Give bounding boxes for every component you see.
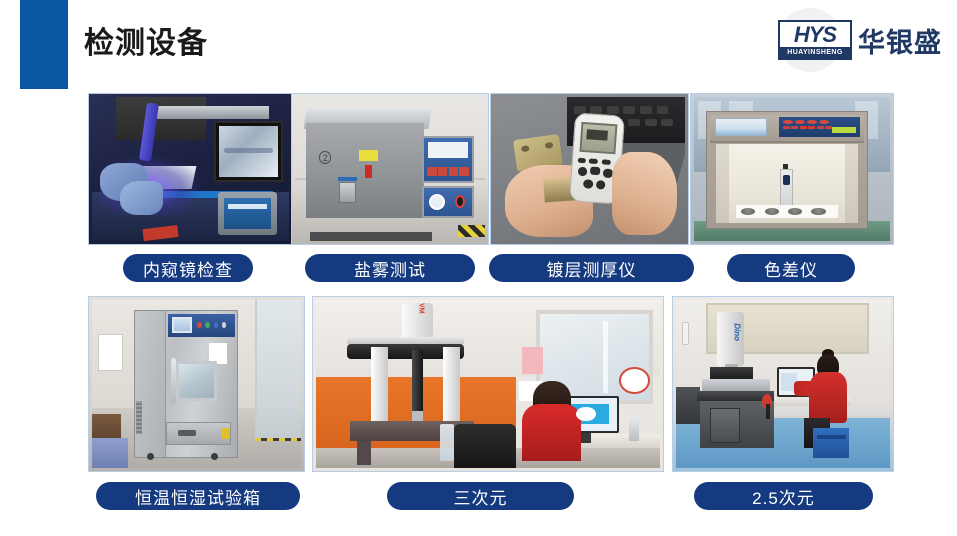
- blue-tarp: [92, 438, 128, 468]
- control-knob: [455, 195, 465, 208]
- panel-lcd: [832, 127, 856, 133]
- chamber-lower-panel: [422, 186, 473, 218]
- title-accent-bar: [20, 0, 68, 89]
- label-salt-spray-test[interactable]: 盐雾测试: [305, 254, 475, 282]
- wall-thermometer: [682, 322, 688, 346]
- controller-touchscreen: [172, 317, 192, 332]
- machine-rail-shape: [147, 106, 269, 119]
- cmm-brand-text: VM: [411, 303, 424, 320]
- water-bottle: [440, 424, 454, 461]
- control-panel-shape: [218, 192, 277, 235]
- monitor-shape: [214, 121, 283, 181]
- photo-inner: [494, 97, 685, 241]
- chamber-control-panel: [422, 136, 473, 184]
- chamber-blue-label: [338, 177, 357, 181]
- label-color-difference-meter[interactable]: 色差仪: [727, 254, 855, 282]
- pressure-gauge: [429, 194, 445, 210]
- page-title: 检测设备: [84, 18, 208, 62]
- cabinet-vent: [136, 401, 143, 433]
- vmm-brand-text: Dino: [718, 323, 742, 340]
- light-box-cavity: [716, 144, 857, 223]
- label-endoscope-inspection[interactable]: 内窥镜检查: [123, 254, 253, 282]
- pink-wall-notice: [522, 347, 543, 374]
- cabinet-left-door: [135, 311, 166, 457]
- logo-pinyin-text: HUAYINSHENG: [780, 47, 850, 58]
- cmm-z-ram: [412, 350, 422, 414]
- vmm-cross-arm: [710, 367, 753, 379]
- photo-constant-temperature-humidity-chamber: [88, 296, 305, 472]
- photo-inner: 2: [295, 97, 485, 241]
- light-box-body: [706, 111, 869, 229]
- cavity-side-right: [845, 144, 858, 223]
- logo-company-name: 华银盛: [858, 21, 942, 60]
- gauge-lcd-display: [579, 122, 617, 154]
- photo-inner: Dino: [676, 300, 890, 468]
- light-box-info-label: [715, 118, 767, 137]
- light-box-control-panel: [779, 117, 859, 137]
- label-three-dimensional-cmm[interactable]: 三次元: [387, 482, 574, 510]
- gauge-keypad: [576, 158, 616, 195]
- emergency-stop-button: [365, 165, 372, 178]
- company-logo: HYS HUAYINSHENG 华银盛: [772, 12, 942, 68]
- chamber-cabinet: [134, 310, 239, 458]
- operator-body-red-shirt: [809, 372, 848, 422]
- photo-inner: VM: [316, 300, 660, 468]
- logo-mark: HYS HUAYINSHENG: [778, 20, 852, 60]
- vmm-cabinet-door: [710, 408, 740, 443]
- light-box-header: [710, 115, 864, 143]
- chamber-number-badge: 2: [319, 151, 331, 163]
- label-constant-temp-humidity-chamber[interactable]: 恒温恒湿试验箱: [96, 482, 300, 510]
- photo-coating-thickness-gauge: [490, 93, 689, 245]
- photo-inner: [92, 300, 301, 468]
- photo-inner: [694, 97, 890, 241]
- yellow-marker-label: [222, 428, 229, 440]
- chamber-body: 2: [306, 123, 424, 218]
- chamber-door-window: [339, 182, 355, 203]
- slide-root: 检测设备 HYS HUAYINSHENG 华银盛: [0, 0, 957, 536]
- cmm-column-right: [443, 347, 460, 421]
- fire-extinguisher-sign: [619, 367, 650, 394]
- machine-gantry-shape: [116, 97, 207, 140]
- monitor-screen: [219, 126, 278, 176]
- vmm-joystick: [766, 404, 770, 419]
- warning-sticker: [359, 150, 378, 160]
- office-chair: [454, 424, 516, 468]
- operator-hand-right: [612, 152, 677, 236]
- chamber-view-window: [176, 361, 217, 402]
- dark-side-cabinet: [676, 387, 700, 424]
- lamp-indicator-row: [783, 120, 830, 124]
- blue-stool: [813, 428, 849, 458]
- hazard-stripe: [458, 225, 485, 237]
- glass-partition: [255, 300, 301, 441]
- logo-hys-text: HYS: [780, 22, 850, 47]
- photo-endoscope-inspection-station: [88, 93, 293, 245]
- label-two-point-five-dimensional[interactable]: 2.5次元: [694, 482, 873, 510]
- operator-body-red-shirt: [522, 404, 580, 461]
- desk-bottle: [629, 418, 639, 442]
- chamber-base: [310, 232, 432, 241]
- cmm-column-left: [371, 347, 388, 421]
- floor-warning-tape: [255, 438, 301, 441]
- photo-inner: [92, 97, 289, 241]
- monitor-stand: [581, 433, 591, 443]
- photo-salt-spray-test-chamber: 2: [291, 93, 489, 245]
- chamber-panel-display: [428, 142, 468, 158]
- lamp-button-row: [783, 126, 833, 129]
- photo-color-assessment-light-box: [690, 93, 894, 245]
- chamber-controller: [168, 314, 236, 337]
- sample-tray: [736, 205, 838, 218]
- label-coating-thickness-gauge[interactable]: 镀层测厚仪: [489, 254, 694, 282]
- chamber-panel-buttons: [427, 167, 469, 177]
- control-panel-screen: [224, 198, 271, 229]
- operator-gloved-hand-right: [120, 181, 163, 216]
- photo-vision-measuring-machine: Dino: [672, 296, 894, 472]
- cavity-side-left: [716, 144, 729, 223]
- photo-coordinate-measuring-machine: VM: [312, 296, 664, 472]
- wall-document: [98, 334, 123, 371]
